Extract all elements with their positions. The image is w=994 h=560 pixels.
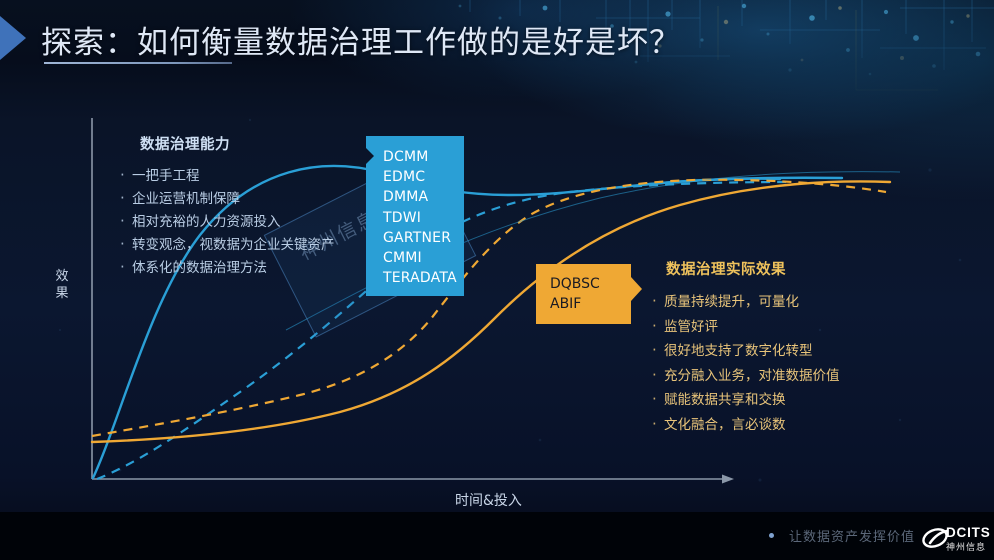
capability-block: 数据治理能力 一把手工程 企业运营机制保障 相对充裕的人力资源投入 转变观念，视… [118,133,335,280]
standards-callout-box: DCMM EDMC DMMA TDWI GARTNER CMMI TERADAT… [366,136,464,296]
footer-bullet-icon [769,533,774,538]
metric-item: ABIF [550,294,631,314]
list-item: 体系化的数据治理方法 [118,257,335,280]
list-item: 赋能数据共享和交换 [650,388,840,413]
standard-item: GARTNER [383,228,464,248]
standard-item: TERADATA [383,268,464,288]
standard-item: DCMM [383,147,464,167]
list-item: 监管好评 [650,315,840,340]
list-item: 文化融合，言必谈数 [650,413,840,438]
logo-wordmark: DCITS [946,525,991,540]
y-axis-label: 效果 [52,268,72,302]
effect-heading: 数据治理实际效果 [666,258,840,279]
list-item: 转变观念，视数据为企业关键资产 [118,234,335,257]
slide-canvas: 探索：如何衡量数据治理工作做的是好是坏？ 效果 时间&投入 神州信息 东方云 数… [0,0,994,560]
metrics-callout-box: DQBSC ABIF [536,264,631,324]
standard-item: DMMA [383,187,464,207]
effect-list: 质量持续提升，可量化 监管好评 很好地支持了数字化转型 充分融入业务，对准数据价… [650,290,840,437]
effect-block: 数据治理实际效果 质量持续提升，可量化 监管好评 很好地支持了数字化转型 充分融… [650,258,840,437]
footer-tagline: 让数据资产发挥价值 [789,526,915,545]
list-item: 一把手工程 [118,165,335,188]
standard-item: EDMC [383,167,464,187]
list-item: 相对充裕的人力资源投入 [118,211,335,234]
standard-item: TDWI [383,208,464,228]
governance-effect-chart [0,0,994,560]
list-item: 企业运营机制保障 [118,188,335,211]
metric-item: DQBSC [550,274,631,294]
list-item: 质量持续提升，可量化 [650,290,840,315]
capability-list: 一把手工程 企业运营机制保障 相对充裕的人力资源投入 转变观念，视数据为企业关键… [118,165,335,280]
x-axis-label: 时间&投入 [455,490,522,510]
metrics-callout-arrow-icon [631,277,642,301]
capability-heading: 数据治理能力 [140,133,335,154]
list-item: 很好地支持了数字化转型 [650,339,840,364]
standard-item: CMMI [383,248,464,268]
list-item: 充分融入业务，对准数据价值 [650,364,840,389]
logo-subtext: 神州信息 [946,540,986,553]
